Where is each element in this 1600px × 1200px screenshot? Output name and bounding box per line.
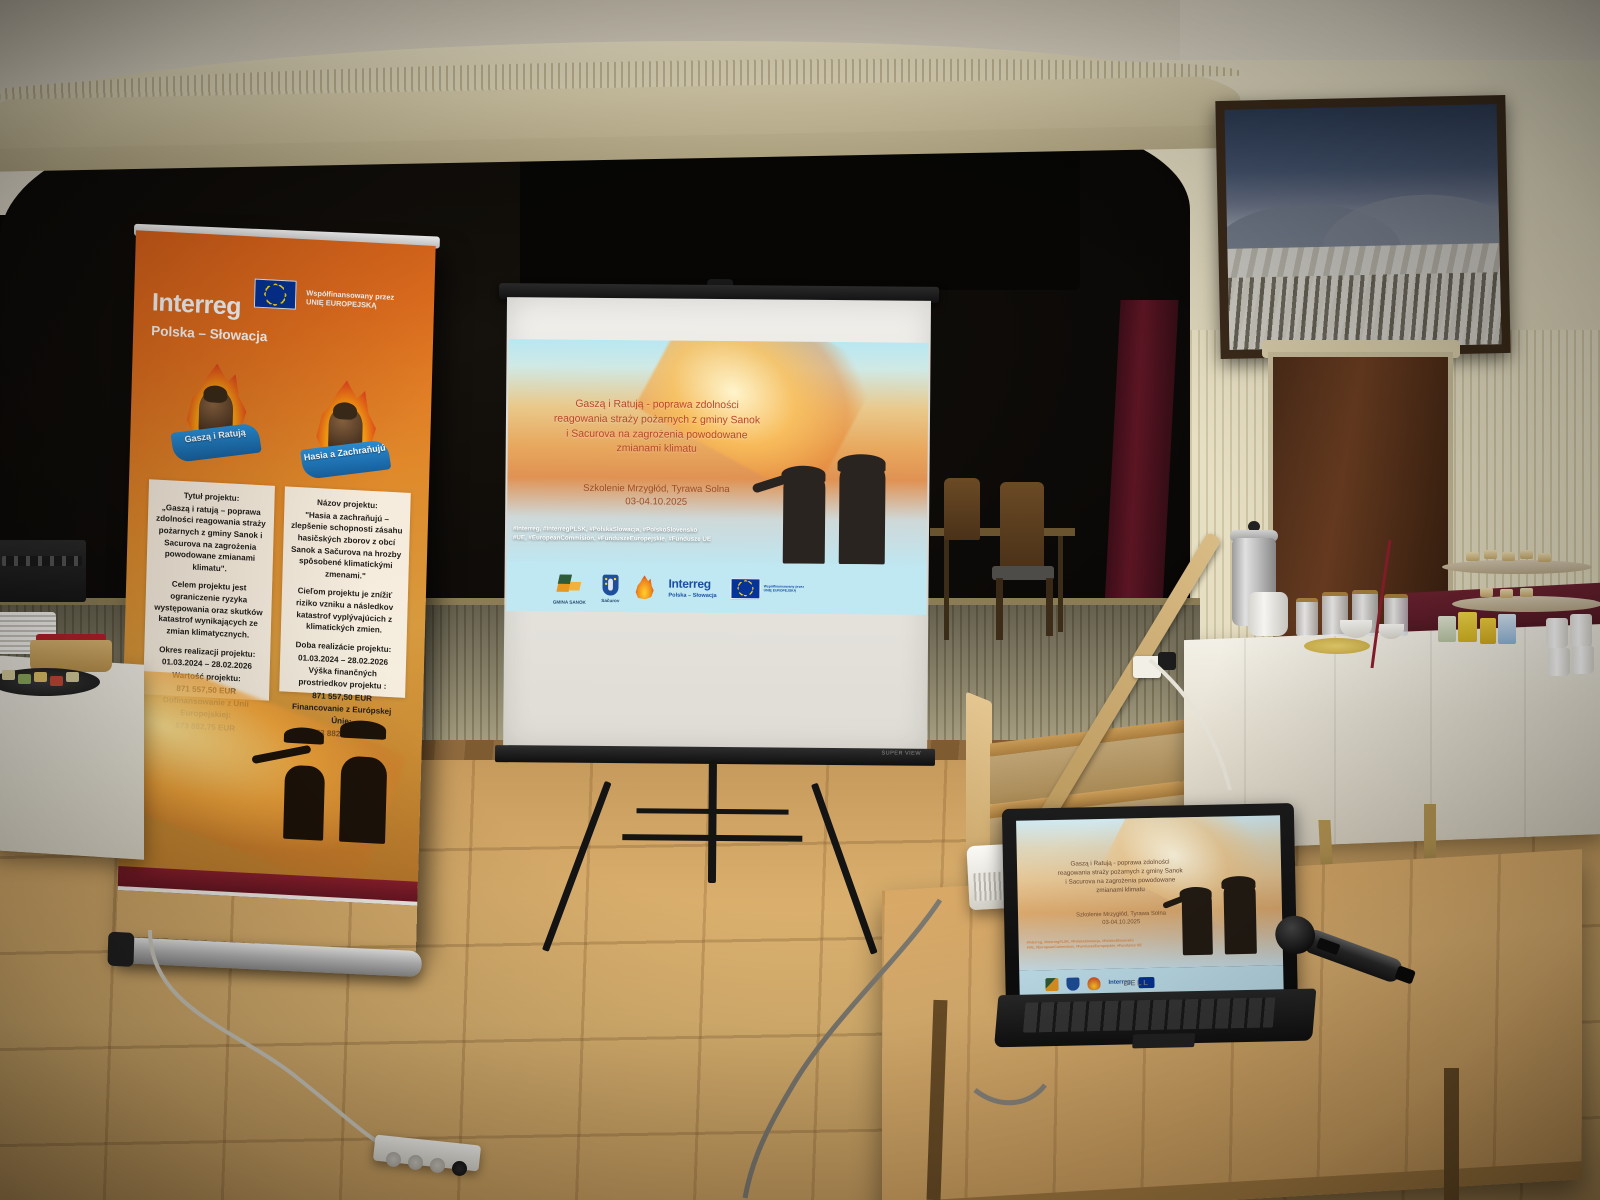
flame-logo-icon (1087, 977, 1100, 990)
slide-event-info: Szkolenie Mrzygłód, Tyrawa Solna 03-04.1… (521, 481, 791, 510)
milk-carton (1498, 614, 1516, 644)
stage-chair-back (1000, 482, 1044, 570)
canape (2, 670, 15, 680)
gmina-sanok-logo-icon (124, 899, 159, 905)
eu-flag-icon (253, 279, 296, 310)
banner-sk-aim: Cieľom projektu je znížiť riziko vzniku … (296, 587, 393, 635)
slide-eu-cofinance-label: Współfinansowany przez UNIĘ EUROPEJSKĄ (764, 584, 810, 593)
stage-chair-leg (996, 578, 1003, 640)
flame-logo-icon (634, 575, 654, 599)
pastry-stand-top-tier (1442, 560, 1592, 574)
presentation-room-scene: Interreg Współfinansowany przez UNIĘ EUR… (0, 0, 1600, 1200)
power-socket[interactable] (430, 1158, 445, 1173)
slide-title-line2: reagowania straży pożarnych z gminy Sano… (522, 412, 792, 429)
slide-title-line4: zmianami klimatu (522, 442, 792, 459)
pastry-item (1480, 588, 1493, 597)
firefighter-silhouettes (277, 728, 410, 845)
power-socket[interactable] (408, 1155, 423, 1170)
pastry-item (1538, 553, 1551, 562)
laptop[interactable]: Gaszą i Ratują - poprawa zdolności reago… (1002, 803, 1298, 1021)
power-socket-occupied[interactable] (452, 1161, 467, 1176)
rollup-banner: Interreg Współfinansowany przez UNIĘ EUR… (116, 230, 435, 951)
wall-power-outlet[interactable] (1133, 656, 1161, 678)
slide-event-date: 03-04.10.2025 (521, 495, 791, 511)
slide-logo-strip: GMINA SANOK Sačurov Interreg Polska – Sł… (506, 561, 926, 615)
stage-chair-leg (1046, 578, 1053, 636)
electric-kettle (1248, 592, 1288, 636)
banner-eu-cofinance-text: Współfinansowany przez UNIĘ EUROPEJSKĄ (306, 288, 398, 311)
tea-box (1458, 612, 1477, 642)
banner-header: Interreg Współfinansowany przez UNIĘ EUR… (134, 230, 436, 332)
pastry-item (1500, 589, 1513, 598)
winter-landscape-photo (1225, 104, 1502, 350)
banner-pl-aim: Celem projektu jest ograniczenie ryzyka … (154, 580, 263, 640)
slide-hashtags-line2: #UE, #EuropeanCommision, #FunduszeEurope… (513, 534, 813, 546)
banner-artwork: Interreg Współfinansowany przez UNIĘ EUR… (118, 230, 436, 905)
cup-stack (1570, 614, 1592, 648)
pastry-item (1466, 552, 1479, 561)
eu-flag-icon (731, 578, 761, 599)
laptop-brand-label: DELL (1123, 978, 1149, 988)
slide-logo-gmina-sanok: GMINA SANOK (552, 569, 586, 604)
canape (18, 674, 31, 684)
sacurov-coat-of-arms-icon (602, 574, 618, 595)
laptop-keyboard[interactable] (1023, 997, 1275, 1032)
flame-logo-sk-ribbon-label: Hasia a Zachraňujú (300, 439, 391, 480)
banner-text-slovak: Názov projektu: "Hasia a zachraňujú – zl… (279, 486, 411, 698)
slide-logo-eu: Współfinansowany przez UNIĘ EUROPEJSKĄ (731, 578, 810, 600)
cup-stack (1572, 646, 1594, 674)
lead-partner-label: Partner Wiodący: (164, 900, 269, 906)
tea-box (1480, 618, 1496, 644)
laptop-touchpad[interactable] (1132, 1033, 1195, 1048)
banner-text-polish: Tytuł projektu: „Gaszą i ratują – popraw… (143, 479, 275, 701)
projection-screen: Gaszą i Ratują - poprawa zdolności reago… (495, 283, 939, 777)
slide-title: Gaszą i Ratują - poprawa zdolności reago… (522, 397, 793, 458)
stage-table-leg (1058, 536, 1063, 632)
slide-hashtags: #Interreg, #InterregPLSK, #PolskaSlowacj… (513, 524, 813, 545)
screen-brand-label: SUPER VIEW (881, 750, 921, 756)
pastry-item (1520, 550, 1533, 559)
slide-interreg-label: Interreg (668, 577, 716, 589)
stage-chair-back (944, 478, 980, 540)
tea-box (1438, 616, 1456, 642)
projected-slide: Gaszą i Ratują - poprawa zdolności reago… (507, 339, 929, 565)
screen-tripod (573, 762, 855, 964)
slide-logo-sacurov: Sačurov (600, 571, 620, 602)
slide-logo-sacurov-label: Sačurov (601, 597, 619, 602)
banner-project-logos: Gaszą i Ratują Hasia a Zachraňujú (129, 351, 432, 485)
cup-stack (1546, 618, 1568, 648)
pastry-item (1520, 588, 1533, 597)
canape (34, 672, 47, 682)
laptop-screen[interactable]: Gaszą i Ratują - poprawa zdolności reago… (1016, 815, 1283, 970)
stage-table-leg (944, 536, 949, 640)
sugar-jar (1296, 598, 1318, 636)
banner-base-foot (107, 932, 134, 967)
slide-interreg-sub: Polska – Słowacja (668, 592, 716, 598)
tripod-brace (637, 808, 789, 814)
flame-logo-pl-icon: Gaszą i Ratują (172, 361, 261, 465)
slide-logo-interreg: Interreg Polska – Słowacja (668, 577, 716, 598)
slide-logo-flame (634, 575, 654, 599)
power-socket[interactable] (386, 1152, 401, 1167)
flame-logo-sk-icon: Hasia a Zachraňujú (301, 378, 390, 482)
tripod-brace (622, 834, 802, 842)
cookie-plate (1304, 638, 1370, 654)
stage-ceiling-beam (520, 150, 1080, 290)
wall-picture-frame (1215, 95, 1510, 359)
cup-stack (1548, 648, 1570, 676)
laptop-slide-title: Gaszą i Ratują - poprawa zdolności reago… (1033, 857, 1208, 897)
tripod-center-post (708, 763, 717, 883)
canape (50, 676, 63, 686)
table-leg (1424, 804, 1436, 862)
banner-pl-title: „Gaszą i ratują – poprawa zdolności reag… (156, 503, 266, 574)
slide-logo-gmina-sanok-label: GMINA SANOK (553, 599, 586, 604)
flame-logo-pl-ribbon-label: Gaszą i Ratują (170, 422, 261, 463)
banner-sk-title: "Hasia a zachraňujú – zlepšenie schopnos… (291, 510, 403, 580)
banner-interreg-logo: Interreg (152, 288, 242, 322)
canape (66, 672, 79, 682)
sacurov-coat-of-arms-icon (1066, 977, 1079, 990)
pastry-item (1502, 552, 1515, 561)
amplifier-controls[interactable] (2, 556, 82, 566)
gmina-sanok-logo-icon (557, 573, 582, 595)
pastry-stand-bottom-tier (1452, 596, 1600, 612)
gmina-sanok-logo-icon (1045, 977, 1058, 990)
power-plug (1158, 652, 1176, 670)
pa-amplifier (0, 540, 86, 602)
pastry-item (1484, 550, 1497, 559)
presenter-table-leg (1444, 1068, 1459, 1200)
